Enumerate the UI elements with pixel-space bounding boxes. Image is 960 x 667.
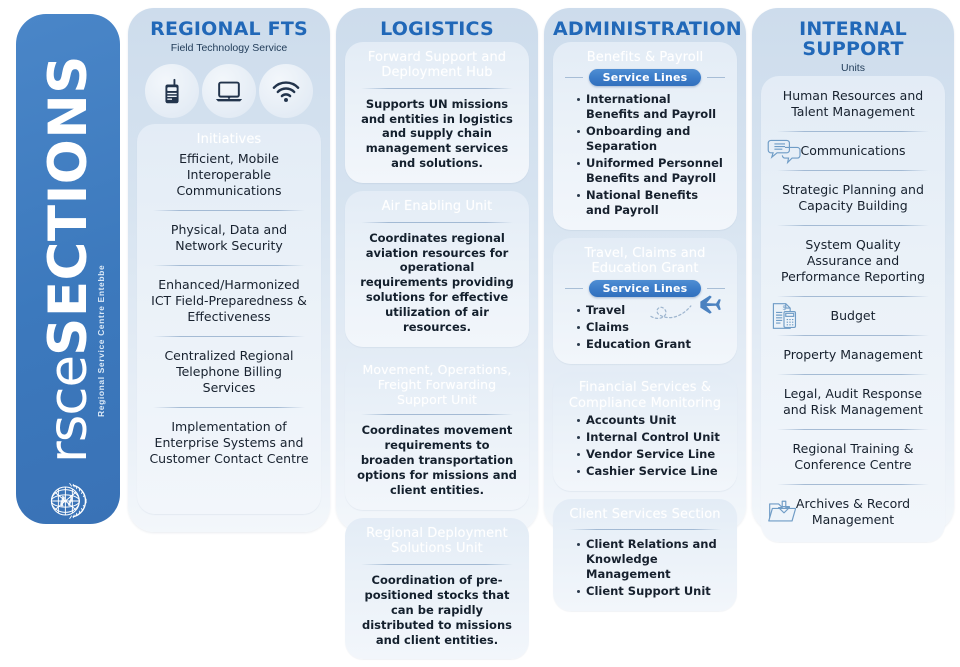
- card-description: Coordinates movement requirements to bro…: [355, 422, 519, 500]
- list-item: Uniformed Personnel Benefits and Payroll: [577, 156, 725, 186]
- list-item-label: Archives & Record Management: [796, 496, 910, 527]
- column-subtitle: Units: [761, 62, 945, 74]
- list-item: Accounts Unit: [577, 413, 725, 428]
- list-item: Centralized Regional Telephone Billing S…: [147, 344, 311, 400]
- bullet-list: Travel Claims Education Grant: [563, 303, 727, 352]
- divider: [361, 414, 513, 415]
- service-lines-badge-row: Service Lines: [565, 69, 725, 86]
- archive-folder-icon: [767, 497, 801, 527]
- list-item: Client Support Unit: [577, 584, 725, 599]
- divider: [565, 288, 583, 289]
- list-item: Enhanced/Harmonized ICT Field-Preparedne…: [147, 273, 311, 329]
- divider: [777, 170, 929, 171]
- column-administration: ADMINISTRATION Benefits & Payroll Servic…: [544, 8, 746, 532]
- divider: [777, 225, 929, 226]
- list-item: Claims: [577, 320, 725, 335]
- list-item: Cashier Service Line: [577, 464, 725, 479]
- card-air-enabling-unit: Air Enabling Unit Coordinates regional a…: [345, 191, 529, 347]
- speech-bubbles-icon: [767, 136, 801, 166]
- list-item-label: Communications: [800, 143, 905, 158]
- list-item: Legal, Audit Response and Risk Managemen…: [771, 382, 935, 422]
- list-item: Physical, Data and Network Security: [147, 218, 311, 258]
- infographic-board: rsceSECTIONS Regional Service Centre Ent…: [0, 0, 960, 540]
- card-title: Travel, Claims and Education Grant: [563, 246, 727, 277]
- divider: [565, 77, 583, 78]
- laptop-icon: [202, 64, 256, 118]
- list-item: Education Grant: [577, 337, 725, 352]
- card-initiatives: Initiatives Efficient, Mobile Interopera…: [137, 124, 321, 514]
- column-title: LOGISTICS: [345, 20, 529, 40]
- card-title: Client Services Section: [563, 507, 727, 522]
- brand-title: rsceSECTIONS: [42, 55, 95, 463]
- divider: [153, 265, 305, 266]
- administration-cards: Benefits & Payroll Service Lines Interna…: [553, 42, 737, 619]
- card-internal-support-units: Human Resources and Talent Management Co…: [761, 76, 945, 542]
- card-title: Initiatives: [147, 132, 311, 147]
- column-subtitle: Field Technology Service: [137, 42, 321, 54]
- list-item: National Benefits and Payroll: [577, 188, 725, 218]
- status-badge: Service Lines: [589, 280, 702, 297]
- status-badge: Service Lines: [589, 69, 702, 86]
- bullet-list: Client Relations and Knowledge Managemen…: [563, 537, 727, 599]
- divider: [361, 564, 513, 565]
- card-financial-services-compliance: Financial Services & Compliance Monitori…: [553, 372, 737, 490]
- brand-title-light: rsce: [38, 356, 99, 463]
- list-item: Implementation of Enterprise Systems and…: [147, 415, 311, 471]
- divider: [777, 335, 929, 336]
- calculator-invoice-icon: $: [767, 301, 801, 331]
- list-item-budget: $ Budget: [771, 304, 935, 328]
- card-description: Coordinates regional aviation resources …: [355, 230, 519, 338]
- column-header: LOGISTICS: [345, 20, 529, 40]
- column-title: INTERNAL SUPPORT: [761, 20, 945, 60]
- list-item: Vendor Service Line: [577, 447, 725, 462]
- column-internal-support: INTERNAL SUPPORT Units Human Resources a…: [752, 8, 954, 532]
- card-title: Air Enabling Unit: [355, 199, 519, 214]
- divider: [361, 222, 513, 223]
- bullet-list: International Benefits and Payroll Onboa…: [563, 92, 727, 218]
- card-movement-operations-unit: Movement, Operations, Freight Forwarding…: [345, 355, 529, 510]
- divider: [777, 296, 929, 297]
- divider: [707, 77, 725, 78]
- card-description: Supports UN missions and entities in log…: [355, 96, 519, 174]
- divider: [777, 374, 929, 375]
- card-client-services-section: Client Services Section Client Relations…: [553, 499, 737, 611]
- list-item-archives: Archives & Record Management: [771, 492, 935, 532]
- brand-banner: rsceSECTIONS Regional Service Centre Ent…: [16, 14, 120, 524]
- radio-icon: [145, 64, 199, 118]
- card-regional-deployment-solutions-unit: Regional Deployment Solutions Unit Coord…: [345, 518, 529, 659]
- column-logistics: LOGISTICS Forward Support and Deployment…: [336, 8, 538, 532]
- logistics-cards: Forward Support and Deployment Hub Suppo…: [345, 42, 529, 667]
- divider: [153, 210, 305, 211]
- list-item: Client Relations and Knowledge Managemen…: [577, 537, 725, 582]
- service-lines-badge-row: Service Lines: [565, 280, 725, 297]
- column-header: REGIONAL FTS Field Technology Service: [137, 20, 321, 54]
- brand-subtitle: Regional Service Centre Entebbe: [96, 265, 106, 417]
- card-description: Coordination of pre-positioned stocks th…: [355, 572, 519, 650]
- column-title: ADMINISTRATION: [553, 20, 737, 40]
- card-forward-support-hub: Forward Support and Deployment Hub Suppo…: [345, 42, 529, 183]
- divider: [153, 336, 305, 337]
- card-travel-claims-education-grant: Travel, Claims and Education Grant Servi…: [553, 238, 737, 364]
- divider: [569, 529, 721, 530]
- divider: [777, 484, 929, 485]
- list-item: Travel: [577, 303, 725, 318]
- column-header: INTERNAL SUPPORT Units: [761, 20, 945, 74]
- list-item: Property Management: [771, 343, 935, 367]
- list-item: Strategic Planning and Capacity Building: [771, 178, 935, 218]
- list-item: Regional Training & Conference Centre: [771, 437, 935, 477]
- fts-icon-row: [143, 64, 315, 118]
- card-title: Forward Support and Deployment Hub: [355, 50, 519, 81]
- un-emblem-icon: [40, 473, 96, 524]
- column-title: REGIONAL FTS: [137, 20, 321, 40]
- divider: [361, 88, 513, 89]
- list-item-communications: Communications: [771, 139, 935, 163]
- list-item: Efficient, Mobile Interoperable Communic…: [147, 147, 311, 203]
- card-title: Movement, Operations, Freight Forwarding…: [355, 363, 519, 407]
- card-title: Benefits & Payroll: [563, 50, 727, 65]
- brand-banner-rotated-content: rsceSECTIONS Regional Service Centre Ent…: [16, 14, 120, 524]
- brand-title-bold: SECTIONS: [38, 55, 99, 356]
- divider: [777, 131, 929, 132]
- list-item: International Benefits and Payroll: [577, 92, 725, 122]
- card-title: Financial Services & Compliance Monitori…: [563, 380, 727, 411]
- column-header: ADMINISTRATION: [553, 20, 737, 40]
- card-benefits-payroll: Benefits & Payroll Service Lines Interna…: [553, 42, 737, 230]
- divider: [777, 429, 929, 430]
- divider: [707, 288, 725, 289]
- bullet-list: Accounts Unit Internal Control Unit Vend…: [563, 413, 727, 479]
- wifi-icon: [259, 64, 313, 118]
- svg-text:$: $: [783, 305, 787, 312]
- list-item: Human Resources and Talent Management: [771, 84, 935, 124]
- list-item-label: Budget: [831, 308, 876, 323]
- list-item: Internal Control Unit: [577, 430, 725, 445]
- list-item: System Quality Assurance and Performance…: [771, 233, 935, 289]
- list-item: Onboarding and Separation: [577, 124, 725, 154]
- divider: [153, 407, 305, 408]
- card-title: Regional Deployment Solutions Unit: [355, 526, 519, 557]
- column-regional-fts: REGIONAL FTS Field Technology Service: [128, 8, 330, 532]
